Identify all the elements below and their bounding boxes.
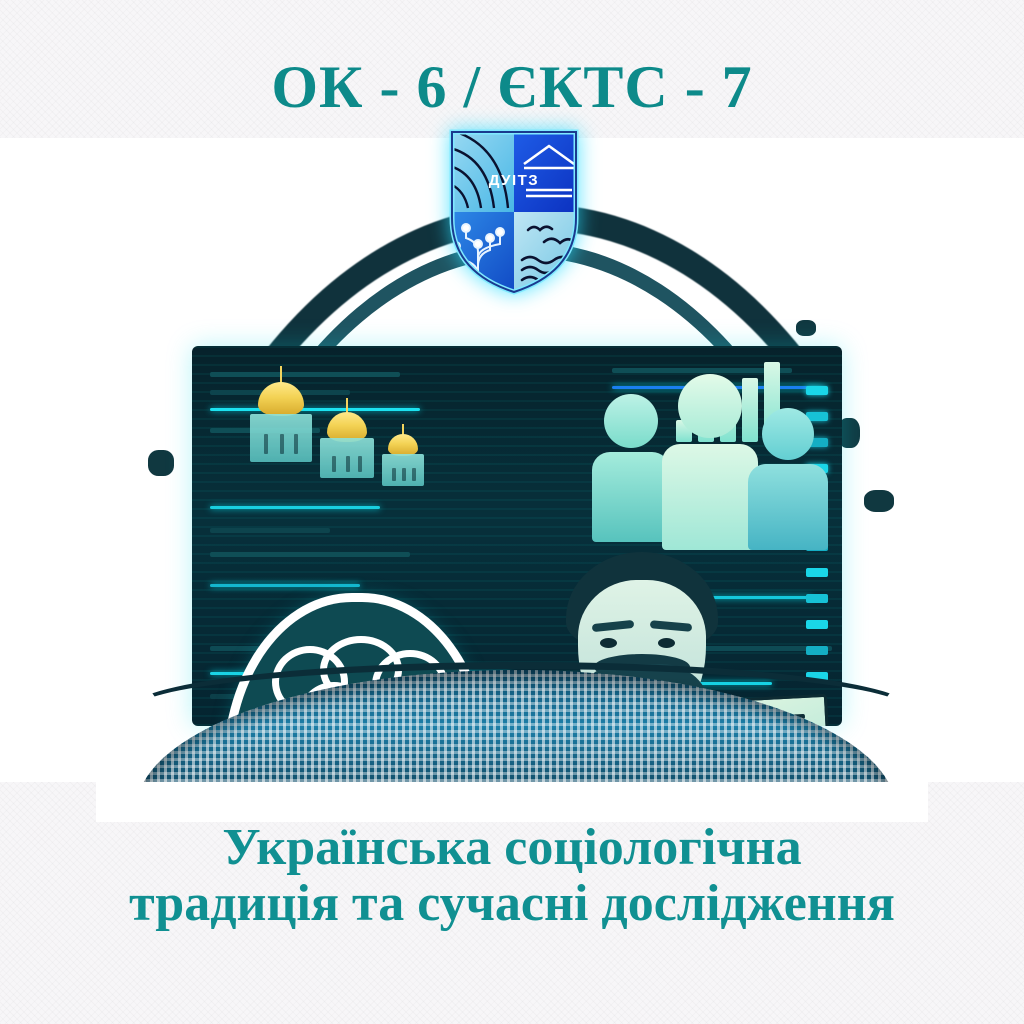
brush-speck [864, 490, 894, 512]
poster-canvas: ОК - 6 / ЄКТС - 7 [0, 0, 1024, 1024]
church-golden-dome-icon [250, 366, 312, 462]
headline-band: ОК - 6 / ЄКТС - 7 [0, 52, 1024, 122]
caption-line-2: традиція та сучасні дослідження [0, 876, 1024, 932]
brush-speck [148, 450, 174, 476]
people-group-icon [748, 408, 828, 550]
people-group-icon [592, 394, 670, 542]
mound-bottom-mask [96, 782, 928, 822]
crest-abbreviation: ДУІТЗ [489, 172, 539, 189]
crest-outline [444, 126, 584, 298]
university-shield-emblem: ДУІТЗ [444, 126, 584, 298]
page-title: ОК - 6 / ЄКТС - 7 [271, 57, 752, 117]
brush-speck [796, 320, 816, 336]
poster-caption: Українська соціологічна традиція та суча… [0, 820, 1024, 932]
church-golden-dome-icon [320, 398, 374, 478]
people-group-icon [662, 374, 758, 550]
caption-line-1: Українська соціологічна [0, 820, 1024, 876]
church-golden-dome-icon [382, 424, 424, 486]
